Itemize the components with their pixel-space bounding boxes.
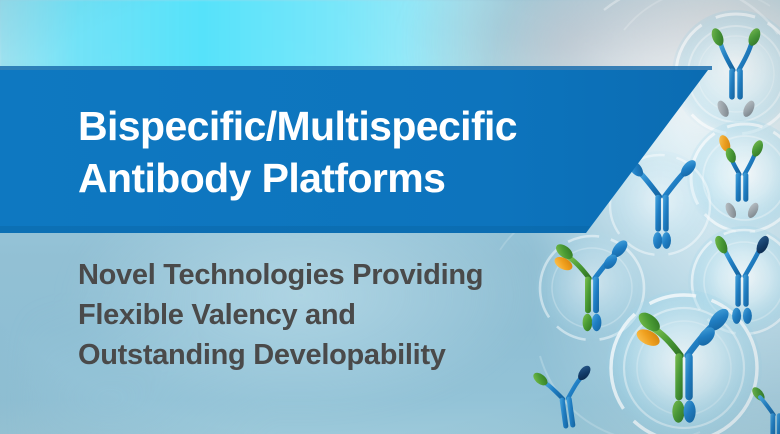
banner-subtitle: Novel Technologies Providing Flexible Va… — [78, 255, 618, 375]
banner-subtitle-line-2: Flexible Valency and — [78, 295, 618, 335]
banner-subtitle-line-1: Novel Technologies Providing — [78, 255, 618, 295]
banner-subtitle-line-3: Outstanding Developability — [78, 335, 618, 375]
banner-title: Bispecific/Multispecific Antibody Platfo… — [78, 100, 638, 204]
banner-title-line-1: Bispecific/Multispecific — [78, 100, 638, 152]
banner-title-line-2: Antibody Platforms — [78, 152, 638, 204]
banner-root: Bispecific/Multispecific Antibody Platfo… — [0, 0, 780, 434]
